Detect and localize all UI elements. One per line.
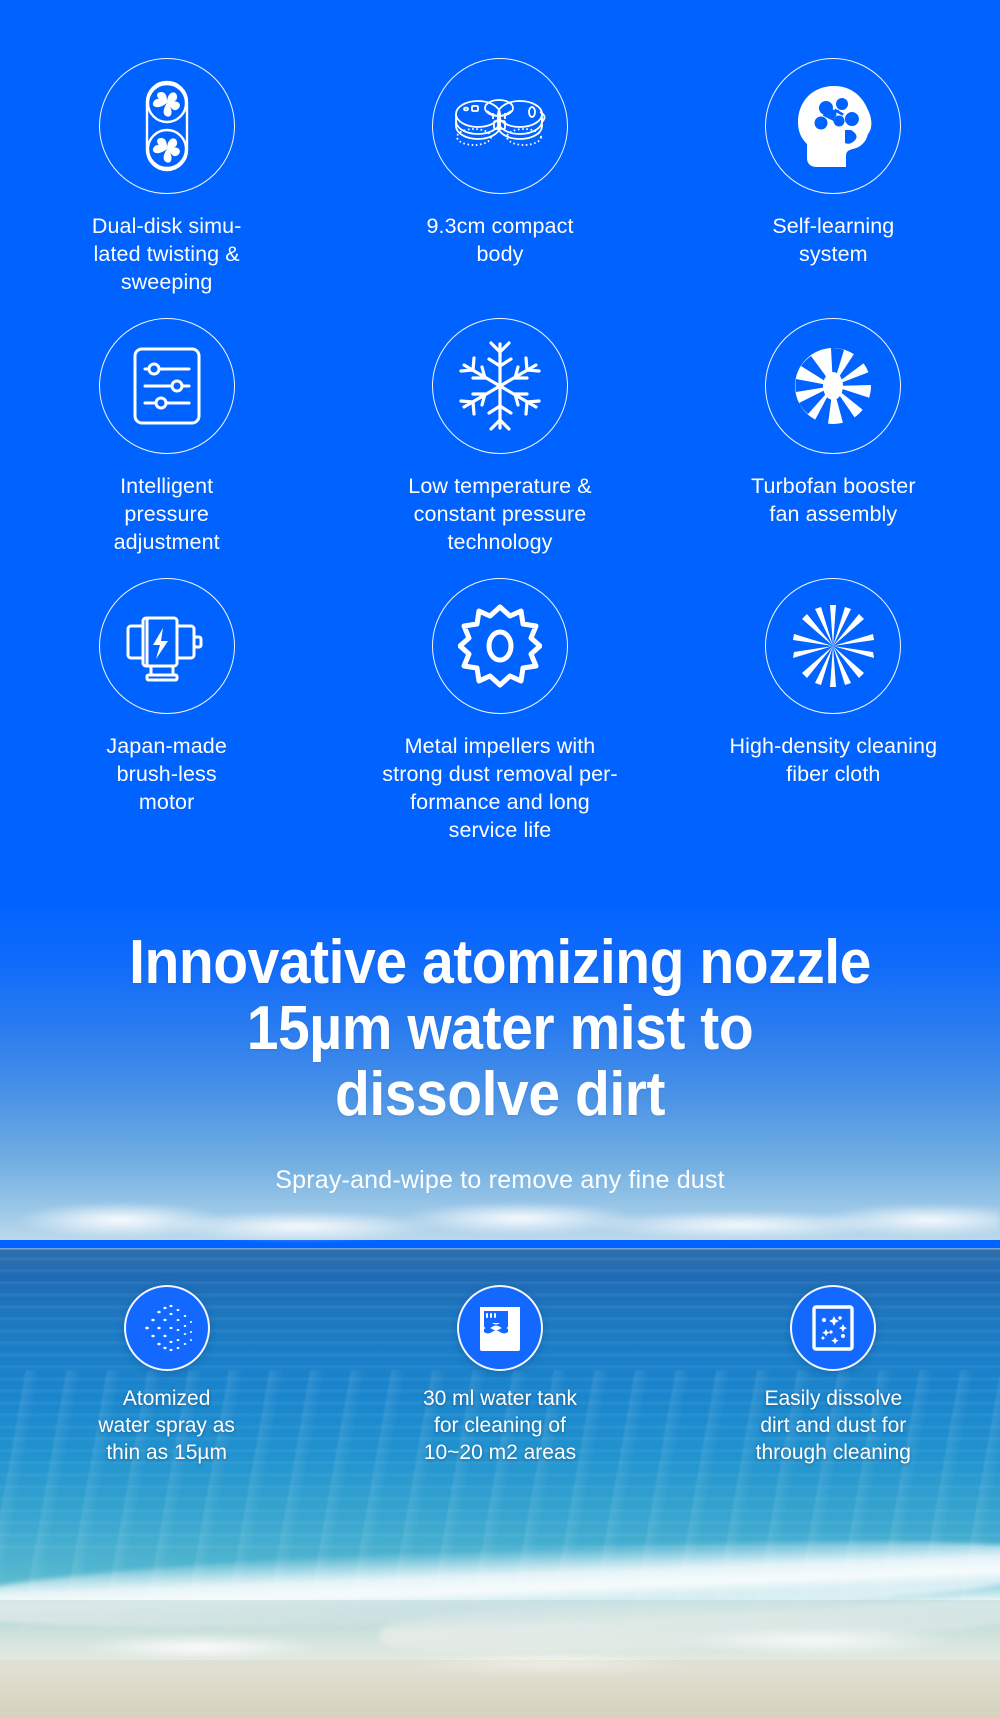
headline-subtitle: Spray-and-wipe to remove any fine dust — [0, 1164, 1000, 1196]
turbofan-icon — [791, 344, 875, 428]
headline-line-2: 15µm water mist to — [40, 996, 960, 1062]
icon-ring — [432, 578, 568, 714]
feature-grid-row-2: Intelligentpressureadjustment — [0, 318, 1000, 556]
bottom-feature-label: 30 ml water tankfor cleaning of10~20 m2 … — [380, 1385, 620, 1466]
feature-label: 9.3cm compactbody — [375, 212, 625, 268]
bottom-feature-label: Easily dissolvedirt and dust forthrough … — [713, 1385, 953, 1466]
feature-label: Dual-disk simu-lated twisting &sweeping — [42, 212, 292, 296]
dual-disk-fans-icon — [123, 78, 211, 174]
feature-label: Metal impellers withstrong dust removal … — [350, 732, 650, 844]
water-tank-icon — [476, 1301, 524, 1355]
feature-cell-low-temperature: Low temperature &constant pressuretechno… — [333, 318, 666, 556]
feature-label: High-density cleaningfiber cloth — [683, 732, 983, 788]
brushless-motor-icon — [119, 606, 215, 686]
sand-tint — [0, 1660, 1000, 1718]
feature-cell-brushless-motor: Japan-madebrush-lessmotor — [0, 578, 333, 844]
headline-block: Innovative atomizing nozzle 15µm water m… — [0, 930, 1000, 1196]
bottom-feature-cell-water-tank: 30 ml water tankfor cleaning of10~20 m2 … — [333, 1285, 666, 1466]
bottom-feature-label: Atomizedwater spray asthin as 15µm — [47, 1385, 287, 1466]
bottom-feature-cell-dissolve-dirt: Easily dissolvedirt and dust forthrough … — [667, 1285, 1000, 1466]
snowflake-icon — [457, 340, 543, 432]
icon-ring — [99, 58, 235, 194]
headline-line-1: Innovative atomizing nozzle — [40, 930, 960, 996]
water-spray-mist-icon — [137, 1300, 197, 1356]
headline-line-3: dissolve dirt — [40, 1062, 960, 1128]
fiber-cloth-burst-icon — [790, 603, 876, 689]
bottom-feature-grid: Atomizedwater spray asthin as 15µm 30 ml… — [0, 1285, 1000, 1466]
feature-label: Japan-madebrush-lessmotor — [42, 732, 292, 816]
robot-vacuum-body-icon — [448, 90, 552, 162]
icon-ring — [99, 578, 235, 714]
icon-ring — [765, 58, 901, 194]
icon-ring — [432, 318, 568, 454]
feature-label: Self-learningsystem — [708, 212, 958, 268]
feature-cell-self-learning: Self-learningsystem — [667, 0, 1000, 296]
product-feature-page: Dual-disk simu-lated twisting &sweeping — [0, 0, 1000, 1718]
icon-disk — [124, 1285, 210, 1371]
feature-cell-dual-disk: Dual-disk simu-lated twisting &sweeping — [0, 0, 333, 296]
feature-cell-compact-body: 9.3cm compactbody — [333, 0, 666, 296]
feature-label: Turbofan boosterfan assembly — [708, 472, 958, 528]
feature-cell-fiber-cloth: High-density cleaningfiber cloth — [667, 578, 1000, 844]
icon-disk — [457, 1285, 543, 1371]
icon-disk — [790, 1285, 876, 1371]
bottom-feature-cell-atomized-spray: Atomizedwater spray asthin as 15µm — [0, 1285, 333, 1466]
feature-label: Intelligentpressureadjustment — [42, 472, 292, 556]
sliders-settings-icon — [129, 345, 205, 427]
icon-ring — [432, 58, 568, 194]
feature-grid-row-3: Japan-madebrush-lessmotor Metal impeller… — [0, 578, 1000, 844]
feature-cell-pressure-adjust: Intelligentpressureadjustment — [0, 318, 333, 556]
feature-cell-metal-impellers: Metal impellers withstrong dust removal … — [333, 578, 666, 844]
icon-ring — [99, 318, 235, 454]
gear-impeller-icon — [458, 602, 542, 690]
feature-grid-row-1: Dual-disk simu-lated twisting &sweeping — [0, 0, 1000, 296]
brain-head-icon — [790, 82, 876, 170]
feature-cell-turbofan: Turbofan boosterfan assembly — [667, 318, 1000, 556]
dirty-panel-icon — [809, 1301, 857, 1355]
icon-ring — [765, 318, 901, 454]
feature-label: Low temperature &constant pressuretechno… — [375, 472, 625, 556]
icon-ring — [765, 578, 901, 714]
